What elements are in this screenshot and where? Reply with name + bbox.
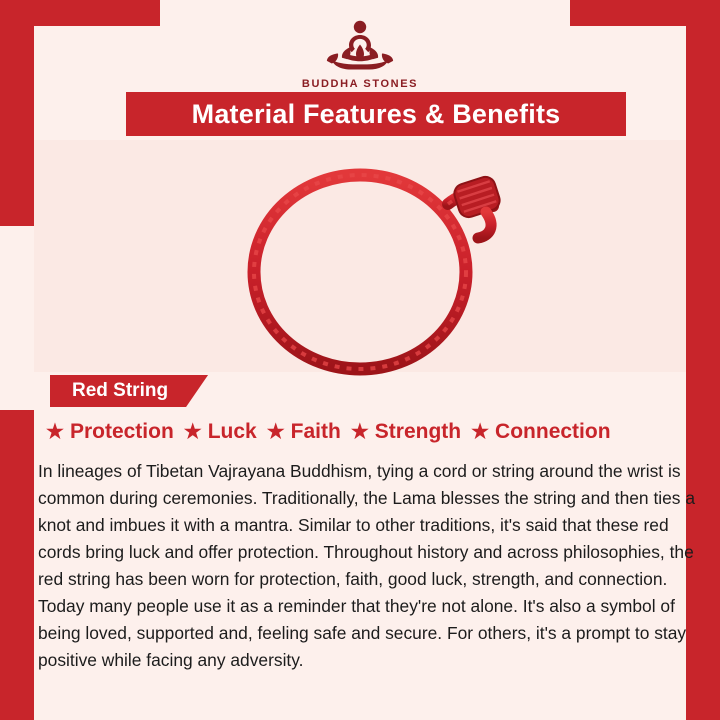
brand-name: BUDDHA STONES bbox=[16, 78, 704, 90]
product-name-tab: Red String bbox=[50, 375, 208, 407]
benefit-label: Luck bbox=[208, 420, 257, 444]
benefit-item-protection: ★ Protection bbox=[46, 420, 174, 444]
benefits-list: ★ Protection ★ Luck ★ Faith ★ Strength ★… bbox=[46, 420, 706, 444]
benefit-item-strength: ★ Strength bbox=[341, 420, 461, 444]
benefit-label: Connection bbox=[495, 420, 611, 444]
brand-logo: BUDDHA STONES bbox=[16, 14, 704, 90]
product-info-card: BUDDHA STONES Material Features & Benefi… bbox=[0, 0, 720, 720]
red-string-bracelet-image bbox=[16, 152, 704, 377]
star-icon: ★ bbox=[184, 422, 202, 442]
benefit-item-luck: ★ Luck bbox=[174, 420, 257, 444]
benefit-item-faith: ★ Faith bbox=[257, 420, 341, 444]
star-icon: ★ bbox=[471, 422, 489, 442]
star-icon: ★ bbox=[267, 422, 285, 442]
page-title-banner: Material Features & Benefits bbox=[126, 92, 626, 136]
lotus-meditation-icon bbox=[311, 14, 409, 76]
star-icon: ★ bbox=[351, 422, 369, 442]
benefit-label: Strength bbox=[375, 420, 461, 444]
star-icon: ★ bbox=[46, 422, 64, 442]
benefit-item-connection: ★ Connection bbox=[461, 420, 610, 444]
product-name: Red String bbox=[72, 380, 168, 402]
page-title: Material Features & Benefits bbox=[192, 101, 561, 128]
benefit-label: Protection bbox=[70, 420, 174, 444]
benefit-label: Faith bbox=[291, 420, 341, 444]
product-description: In lineages of Tibetan Vajrayana Buddhis… bbox=[38, 458, 706, 674]
